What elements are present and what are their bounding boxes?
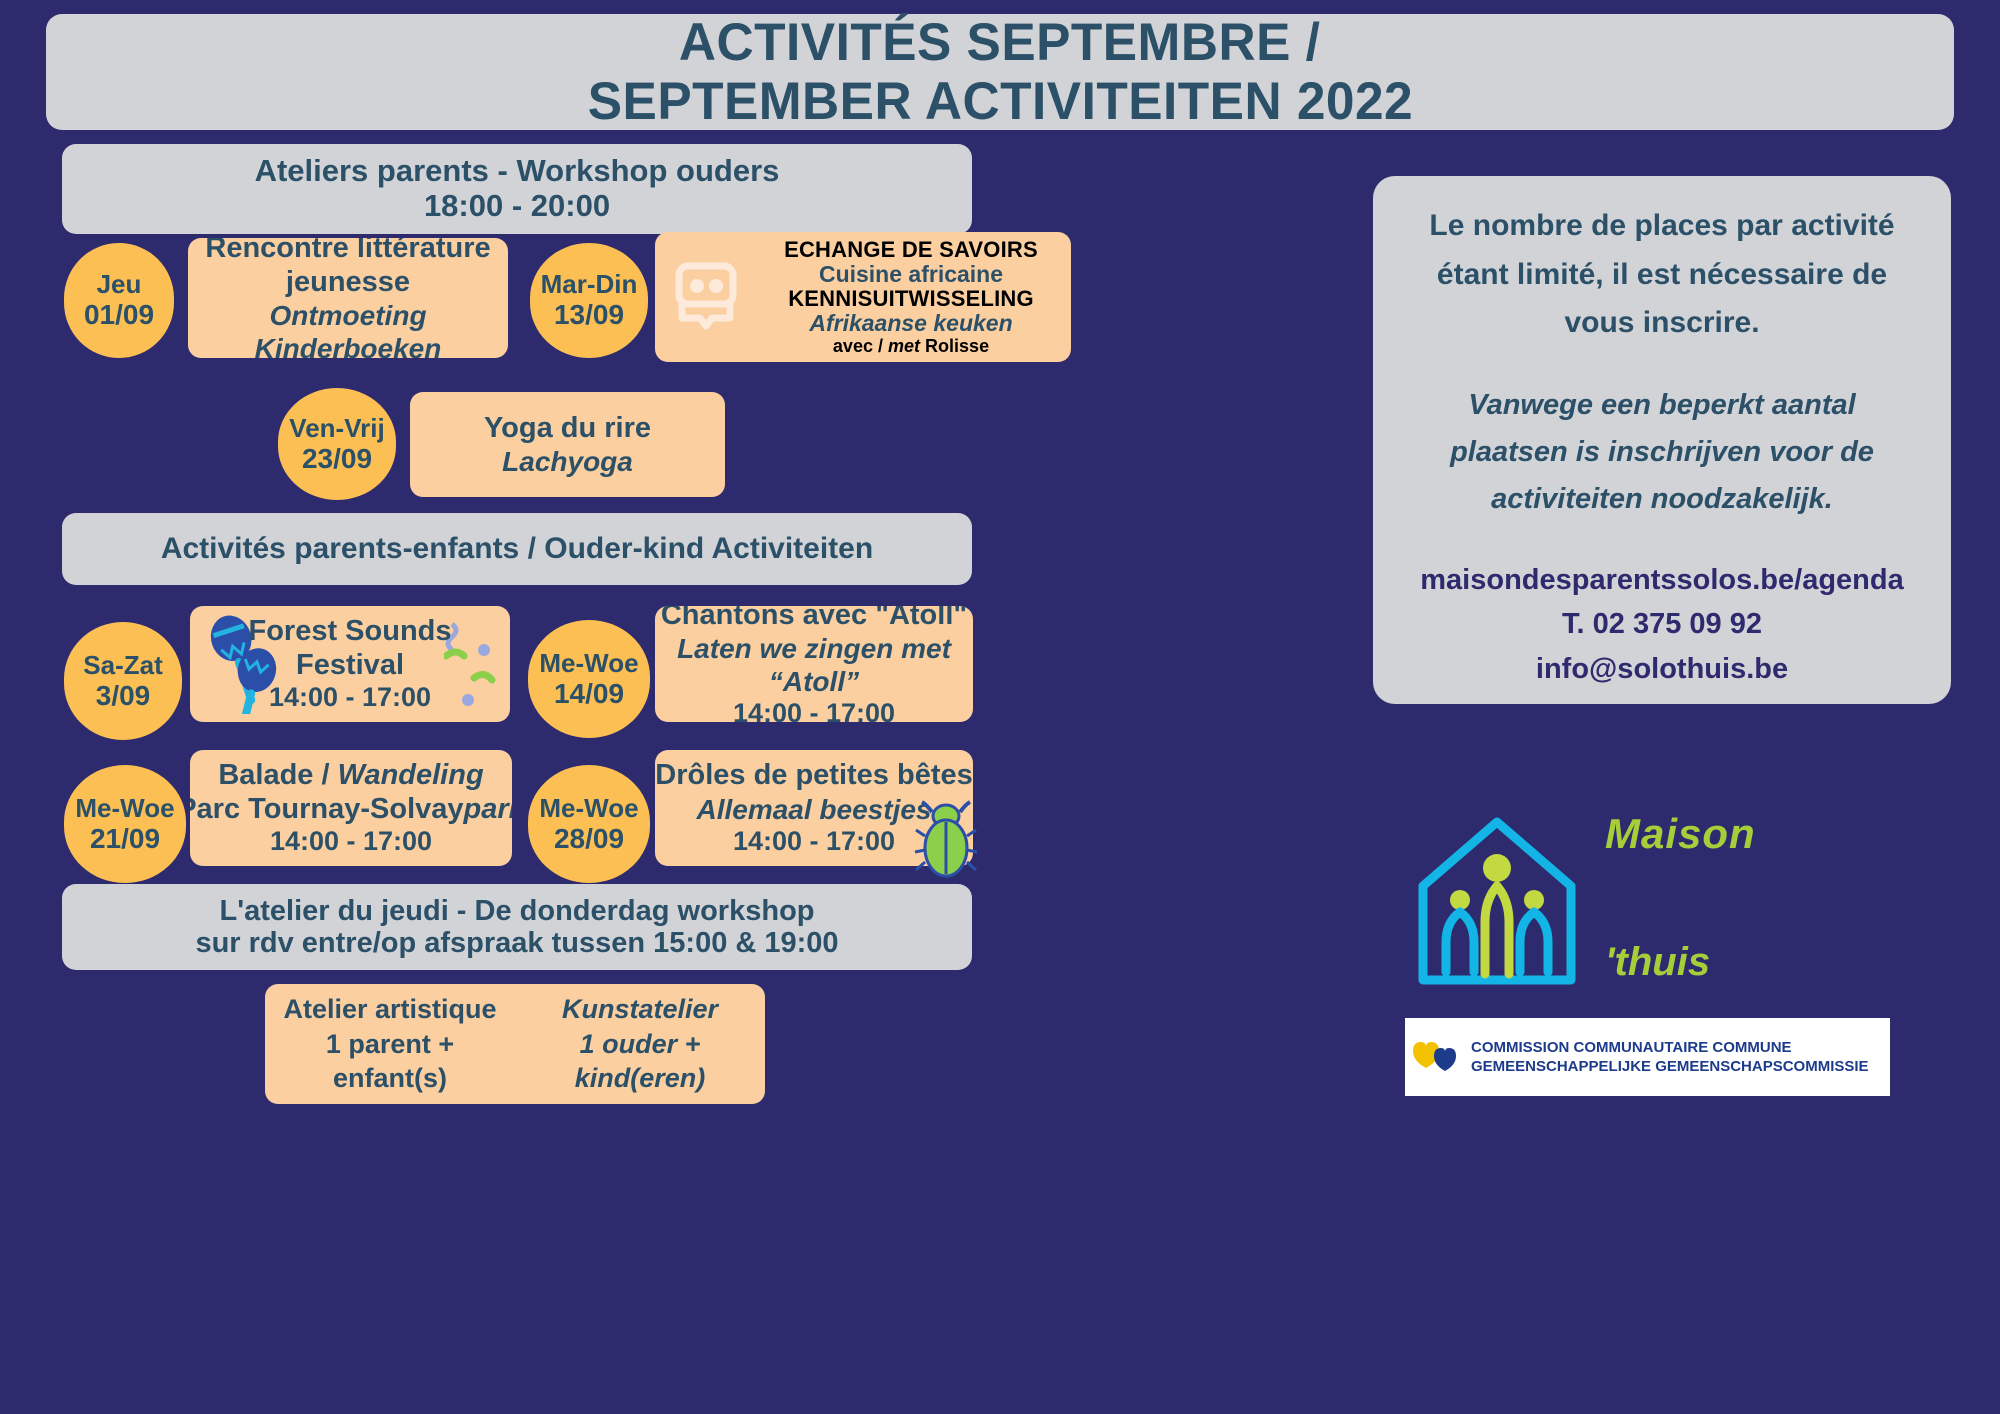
activity-title-nl: Ontmoeting Kinderboeken <box>188 299 508 358</box>
activity-title-fr: Drôles de petites bêtes <box>655 758 973 792</box>
with-nl: met <box>888 336 920 356</box>
info-nl-line1: Vanwege een beperkt aantal <box>1395 382 1929 429</box>
activity-caption-fr: ECHANGE DE SAVOIRS <box>784 238 1038 262</box>
activity-title-fr2: Parc Tournay-Solvaypark <box>190 792 512 826</box>
logo-thuis-text: 'thuis <box>1605 940 1820 985</box>
with-name: Rolisse <box>925 336 989 356</box>
activity-title-nl: Allemaal beestjes <box>696 793 931 826</box>
activity-title-fr2: jeunesse <box>286 265 410 299</box>
activity-title-fr: Rencontre littérature <box>205 238 490 265</box>
atelier-artistique-nl: Kunstatelier 1 ouder + kind(eren) <box>515 992 765 1096</box>
section-header-atelier-jeudi: L'atelier du jeudi - De donderdag worksh… <box>62 884 972 970</box>
section-header-line1: L'atelier du jeudi - De donderdag worksh… <box>219 895 814 927</box>
registration-info-panel: Le nombre de places par activité étant l… <box>1373 176 1951 704</box>
page-title-line2: SEPTEMBER ACTIVITEITEN 2022 <box>587 72 1412 131</box>
date-bubble-date: 28/09 <box>554 823 624 855</box>
activity-title-fr: Forest Sounds <box>248 614 451 648</box>
date-bubble-date: 21/09 <box>90 823 160 855</box>
info-fr-line2: étant limité, il est nécessaire de <box>1395 251 1929 300</box>
ccc-label: COMMISSION COMMUNAUTAIRE COMMUNE GEMEENS… <box>1471 1038 1869 1076</box>
date-bubble-day: Sa-Zat <box>83 650 162 680</box>
logo-des-parents-solos-text: des parents solos <box>1605 860 1820 888</box>
activity-title-fr: Yoga du rire <box>484 411 651 445</box>
activity-time: 14:00 - 17:00 <box>269 682 431 714</box>
activity-card-forest-sounds-festival[interactable]: Forest Sounds Festival 14:00 - 17:00 <box>190 606 510 722</box>
activity-title-nl: Lachyoga <box>502 445 633 478</box>
atelier-artistique-fr-line1: Atelier artistique <box>265 992 515 1027</box>
poster-root: ACTIVITÉS SEPTEMBRE / SEPTEMBER ACTIVITE… <box>0 0 2000 1414</box>
date-bubble-date: 01/09 <box>84 299 154 331</box>
date-bubble-mewoe-2809: Me-Woe 28/09 <box>528 765 650 883</box>
page-title-line1: ACTIVITÉS SEPTEMBRE / <box>679 13 1320 72</box>
date-bubble-day: Ven-Vrij <box>289 413 384 443</box>
section-header-line2: sur rdv entre/op afspraak tussen 15:00 &… <box>195 927 838 959</box>
date-bubble-jeu-0109: Jeu 01/09 <box>64 243 174 358</box>
activity-card-rencontre-litterature[interactable]: Rencontre littérature jeunesse Ontmoetin… <box>188 238 508 358</box>
atelier-artistique-nl-line2: 1 ouder + <box>515 1027 765 1062</box>
section-header-line1: Activités parents-enfants / Ouder-kind A… <box>161 532 873 566</box>
date-bubble-mewoe-1409: Me-Woe 14/09 <box>528 620 650 738</box>
page-title: ACTIVITÉS SEPTEMBRE / SEPTEMBER ACTIVITE… <box>46 14 1954 130</box>
date-bubble-day: Me-Woe <box>539 793 638 823</box>
info-nl-line3: activiteiten noodzakelijk. <box>1395 476 1929 523</box>
logo-eenoudergezinnen-text: Eenoudergezinnen <box>1605 910 1820 938</box>
website-link[interactable]: maisondesparentssolos.be/agenda <box>1395 559 1929 603</box>
activity-card-chantons-avec-atoll[interactable]: Chantons avec "Atoll" Laten we zingen me… <box>655 606 973 722</box>
date-bubble-venvrij-2309: Ven-Vrij 23/09 <box>278 388 396 500</box>
with-fr: avec <box>833 336 873 356</box>
activity-with-line: avec / met Rolisse <box>833 337 989 357</box>
section-header-line1: Ateliers parents - Workshop ouders <box>255 154 780 189</box>
house-family-logo-icon <box>1405 808 1590 993</box>
info-fr-paragraph: Le nombre de places par activité étant l… <box>1395 202 1929 348</box>
activity-card-yoga-du-rire[interactable]: Yoga du rire Lachyoga <box>410 392 725 497</box>
activity-title-fr2-text: Parc Tournay-Solvay <box>190 793 464 825</box>
activity-card-echange-de-savoirs[interactable]: ECHANGE DE SAVOIRS Cuisine africaine KEN… <box>655 232 1071 362</box>
activity-card-balade-wandeling[interactable]: Balade / Wandeling Parc Tournay-Solvaypa… <box>190 750 512 866</box>
logo-maison-text: Maison <box>1605 810 1820 858</box>
activity-time: 14:00 - 17:00 <box>733 698 895 722</box>
info-nl-paragraph: Vanwege een beperkt aantal plaatsen is i… <box>1395 382 1929 523</box>
logo-wordmark: Maison des parents solos Eenoudergezinne… <box>1605 810 1820 985</box>
activity-title-fr: Chantons avec "Atoll" <box>661 606 967 632</box>
confetti-decoration-icon <box>444 616 500 711</box>
date-bubble-mardin-1309: Mar-Din 13/09 <box>530 243 648 358</box>
activity-title-fr-text: Balade / <box>218 759 337 791</box>
activity-time: 14:00 - 17:00 <box>733 826 895 858</box>
date-bubble-day: Me-Woe <box>539 648 638 678</box>
atelier-artistique-fr-line3: enfant(s) <box>265 1061 515 1096</box>
date-bubble-day: Jeu <box>97 269 142 299</box>
ccc-line2: GEMEENSCHAPPELIJKE GEMEENSCHAPSCOMMISSIE <box>1471 1057 1869 1076</box>
exchange-knowledge-icon <box>669 260 743 334</box>
beetle-icon <box>910 800 982 880</box>
logo-maison-des-parents-solos: Maison des parents solos Eenoudergezinne… <box>1395 790 1915 1010</box>
atelier-artistique-nl-line3: kind(eren) <box>515 1061 765 1096</box>
date-bubble-date: 23/09 <box>302 443 372 475</box>
logo-commission-communautaire-commune: COMMISSION COMMUNAUTAIRE COMMUNE GEMEENS… <box>1405 1018 1890 1096</box>
atelier-artistique-nl-line1: Kunstatelier <box>515 992 765 1027</box>
activity-card-atelier-artistique[interactable]: Atelier artistique 1 parent + enfant(s) … <box>265 984 765 1104</box>
section-header-line2: 18:00 - 20:00 <box>424 189 610 224</box>
date-bubble-date: 14/09 <box>554 678 624 710</box>
activity-title-fr2-italic: park <box>464 793 512 825</box>
activity-title-nl: Afrikaanse keuken <box>809 311 1012 336</box>
phone-number[interactable]: T. 02 375 09 92 <box>1395 602 1929 647</box>
activity-title-fr: Balade / Wandeling <box>218 758 483 792</box>
activity-time: 14:00 - 17:00 <box>270 826 432 858</box>
date-bubble-mewoe-2109: Me-Woe 21/09 <box>64 765 186 883</box>
activity-title-fr2: Festival <box>296 648 404 682</box>
date-bubble-date: 13/09 <box>554 299 624 331</box>
date-bubble-day: Mar-Din <box>541 269 638 299</box>
activity-caption-nl: KENNISUITWISSELING <box>788 287 1034 311</box>
with-sep: / <box>878 336 883 356</box>
info-fr-line3: vous inscrire. <box>1395 299 1929 348</box>
activity-title-fr-italic: Wandeling <box>338 759 484 791</box>
date-bubble-date: 3/09 <box>96 680 151 712</box>
info-nl-line2: plaatsen is inschrijven voor de <box>1395 429 1929 476</box>
activity-title-fr: Cuisine africaine <box>819 262 1003 287</box>
info-fr-line1: Le nombre de places par activité <box>1395 202 1929 251</box>
ccc-line1: COMMISSION COMMUNAUTAIRE COMMUNE <box>1471 1038 1869 1057</box>
date-bubble-sazat-0309: Sa-Zat 3/09 <box>64 622 182 740</box>
activity-title-nl: Laten we zingen met “Atoll” <box>655 632 973 698</box>
section-header-parents-enfants: Activités parents-enfants / Ouder-kind A… <box>62 513 972 585</box>
ccc-emblem-icon <box>1405 1028 1463 1086</box>
section-header-ateliers-parents: Ateliers parents - Workshop ouders 18:00… <box>62 144 972 234</box>
atelier-artistique-fr-line2: 1 parent + <box>265 1027 515 1062</box>
atelier-artistique-fr: Atelier artistique 1 parent + enfant(s) <box>265 992 515 1096</box>
email-link[interactable]: info@solothuis.be <box>1395 647 1929 692</box>
date-bubble-day: Me-Woe <box>75 793 174 823</box>
